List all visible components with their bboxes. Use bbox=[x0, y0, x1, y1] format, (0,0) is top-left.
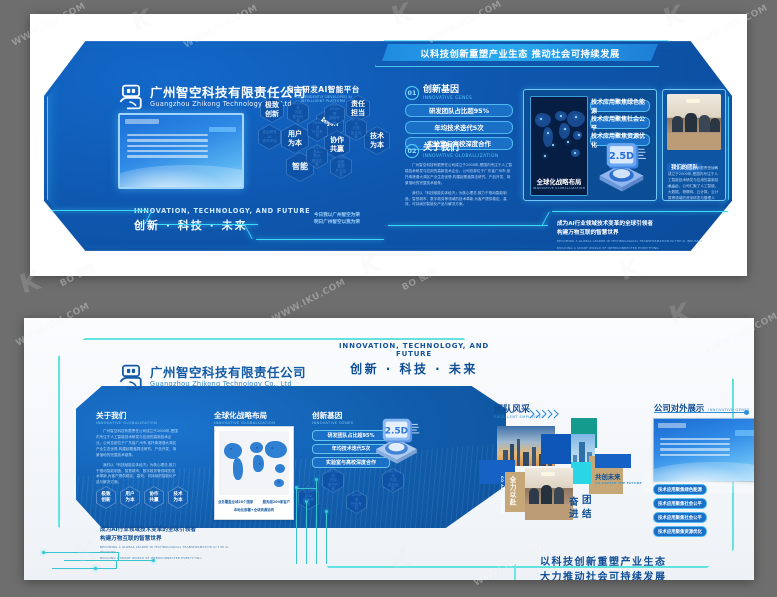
focus-tag-1[interactable]: 技术应用聚焦社会公平 bbox=[590, 117, 650, 129]
value-hex-1[interactable]: 用户为本 bbox=[120, 486, 140, 509]
device-2-5d-illustration: 2.5D bbox=[590, 138, 652, 194]
map-caption-en: INNOVATIVE GLOBALLIZATION bbox=[531, 186, 587, 190]
vision-cn-2: 构建万物互联的智慧世界 bbox=[557, 229, 717, 238]
team-meeting-photo bbox=[667, 94, 721, 150]
team-meeting-photo bbox=[525, 468, 573, 520]
motto-line-2: 明日广州智空以我为荣 bbox=[314, 219, 360, 226]
value-hex-text: 极致创新 bbox=[97, 487, 115, 508]
showcase-tag-1[interactable]: 技术应用聚焦社会公平 bbox=[653, 498, 707, 509]
monitor-button bbox=[209, 127, 236, 133]
top-motto: 今日我以广州智空为荣 明日广州智空以我为荣 bbox=[314, 212, 360, 227]
hex-detail-6: AI赋能创新重塑产业生态 bbox=[330, 154, 352, 179]
team-cap-cocreate-cn: 共创未来 bbox=[595, 472, 621, 481]
world-map-card: 全球化战略布局 INNOVATIVE GLOBALLIZATION bbox=[530, 96, 588, 196]
section-number-badge: 01 bbox=[405, 86, 419, 100]
section-title-en: INNOVATIVE GENES bbox=[423, 96, 472, 101]
hex-label-text: 智能 bbox=[292, 162, 308, 171]
bottom-logo: 广州智空科技有限责任公司 Guangzhou Zhikong Technolog… bbox=[118, 364, 306, 390]
deco-line-1 bbox=[52, 210, 148, 211]
bottom-head: INNOVATION, TECHNOLOGY, AND FUTURE 创新 · … bbox=[324, 342, 504, 377]
footer-line-2: 大力推动社会可持续发展 bbox=[540, 571, 667, 581]
about-paragraph-1: 我们以「科技赋能实体经济」为核心理念,致力于推动智能制造、智慧城市、数字政务等领… bbox=[96, 463, 178, 487]
company-name-cn: 广州智空科技有限责任公司 bbox=[150, 366, 306, 380]
vision-cn-1: 成为AI行业领域技术变革的全球引领者 bbox=[557, 220, 717, 229]
bottom-about-block: 关于我们 INNOVATIVE GLOBALIZATION 广州智空科技有限责任… bbox=[96, 410, 178, 486]
hex-label-5[interactable]: 技术为本 bbox=[364, 126, 390, 155]
hex-detail-text: 持有2600项国际专利 bbox=[325, 103, 344, 125]
global-label-cn: 全球化战略布局 bbox=[214, 410, 294, 421]
svg-text:2.5D: 2.5D bbox=[385, 426, 408, 436]
vision-en-2: BUILDING A SMART WORLD OF INTERCONNECTED… bbox=[557, 246, 717, 250]
svg-text:2.5D: 2.5D bbox=[609, 151, 634, 162]
section-title-cn: 关于我们 bbox=[423, 144, 499, 154]
team-cap-vertical: 全力以赴 bbox=[507, 476, 517, 506]
vision-cn-1: 成为AI行业领域技术变革的全球引领者 bbox=[100, 526, 230, 535]
team-photo-card: 我们的团队 OUR TEAM 广州智空科技有限责任公司成立于2000年,是国内专… bbox=[662, 89, 726, 201]
global-cap-left: 业务覆盖全球20个国家 bbox=[218, 499, 253, 504]
hex-label-text: 责任担当 bbox=[351, 100, 365, 116]
showcase-tag-3[interactable]: 技术应用聚焦资源优化 bbox=[653, 526, 707, 537]
robot-logo-icon bbox=[118, 84, 144, 110]
value-hex-3[interactable]: 技术为本 bbox=[168, 486, 188, 509]
section-title-cn: 创新基因 bbox=[423, 86, 472, 96]
showcase-tag-2[interactable]: 技术应用聚焦社会公平 bbox=[653, 512, 707, 523]
about-paragraph-0: 广州智空科技有限责任公司成立于2000年,是国内专注于人工智能技术研发与应用的高… bbox=[405, 163, 513, 187]
mosaic-blue-block-2 bbox=[541, 434, 571, 464]
section-02-head: 02 关于我们 INNOVATIVE GLOBALLIZATION bbox=[405, 144, 513, 159]
hex-label-text: 极致创新 bbox=[265, 101, 279, 117]
motto-line-1: 今日我以广州智空为荣 bbox=[314, 212, 360, 219]
hex-detail-text: 2600项行业专利 bbox=[308, 121, 327, 139]
value-hex-text: 协作共赢 bbox=[145, 487, 163, 508]
about-label-en: INNOVATIVE GLOBALIZATION bbox=[96, 421, 178, 425]
section-title-en: INNOVATIVE GLOBALLIZATION bbox=[423, 154, 499, 159]
section-number-badge: 02 bbox=[405, 144, 419, 158]
showcase-tag-0[interactable]: 技术应用聚焦绿色能源 bbox=[653, 484, 707, 495]
about-label-cn: 关于我们 bbox=[96, 410, 178, 421]
slogan-en: INNOVATION, TECHNOLOGY, AND FUTURE bbox=[134, 207, 310, 215]
top-board: 以科技创新重塑产业生态 推动社会可持续发展 广州智空科技有限责任公司 Guang… bbox=[30, 14, 747, 276]
hex-cluster: 极致创新 创新 责任担当 用户为本 协作共赢 技术为本 智能 核心技术沉淀迭代 bbox=[258, 90, 408, 185]
vision-en-1: BECOMING A GLOBAL LEADER IN TECHNOLOGICA… bbox=[557, 239, 717, 243]
hex-label-3[interactable]: 用户为本 bbox=[281, 123, 309, 154]
circuit-decoration-left bbox=[34, 546, 184, 580]
focus-tag-0[interactable]: 技术应用聚焦绿色能源 bbox=[590, 100, 650, 112]
team-cap-big-2: 团 bbox=[582, 492, 592, 506]
mosaic-blue-block-3 bbox=[595, 454, 631, 468]
showcase-underline-dot bbox=[744, 410, 749, 415]
hex-detail-1: 自主研发AI技术平台 bbox=[258, 124, 281, 150]
top-vision: 成为AI行业领域技术变革的全球引领者 构建万物互联的智慧世界 BECOMING … bbox=[557, 220, 717, 250]
world-map-caption: 全球化战略布局 INNOVATIVE GLOBALLIZATION bbox=[531, 177, 587, 190]
deco-line-8 bbox=[552, 211, 728, 212]
company-name-en: Guangzhou Zhikong Technology Co., Ltd bbox=[150, 380, 306, 389]
team-cap-cocreate-en: CO-CREATE THE FUTURE bbox=[595, 481, 642, 485]
hex-label-text: 用户为本 bbox=[288, 130, 302, 146]
global-map-image bbox=[219, 431, 289, 495]
poster-stage: 以科技创新重塑产业生态 推动社会可持续发展 广州智空科技有限责任公司 Guang… bbox=[0, 0, 777, 597]
monitor-screen bbox=[120, 115, 242, 187]
bottom-board: 广州智空科技有限责任公司 Guangzhou Zhikong Technolog… bbox=[24, 318, 754, 580]
global-label-en: INNOVATIVE GLOBALIZATION bbox=[214, 421, 294, 425]
hex-label-text: 协作共赢 bbox=[330, 136, 344, 152]
team-cap-vertical-en: GO ALL OUT FOR bbox=[500, 476, 504, 514]
genes-pill-0[interactable]: 研发团队占比超95% bbox=[405, 104, 513, 117]
about-label: 关于我们 INNOVATIVE GLOBALIZATION bbox=[96, 410, 178, 425]
global-layout-card: 全球化战略布局 INNOVATIVE GLOBALLIZATION 技术应用聚焦… bbox=[523, 89, 657, 201]
value-hex-text: 用户为本 bbox=[121, 487, 139, 508]
top-monitor bbox=[118, 113, 244, 189]
mosaic-cyan-block bbox=[571, 462, 591, 484]
footer-line-1: 以科技创新重塑产业生态 bbox=[540, 556, 667, 571]
bottom-global-block: 全球化战略布局 INNOVATIVE GLOBALIZATION bbox=[214, 410, 294, 425]
global-map-card: 业务覆盖全球20个国家 服务超200家客户 本地化部署+全球资源协同 bbox=[214, 426, 294, 520]
about-paragraph-0: 广州智空科技有限责任公司成立于2000年,是国内专注于人工智能技术研发与应用的高… bbox=[96, 429, 178, 459]
hex-detail-text: 自主研发AI技术平台 bbox=[259, 130, 280, 143]
bottom-head-en: INNOVATION, TECHNOLOGY, AND FUTURE bbox=[324, 342, 504, 358]
value-hex-row: 极致创新 用户为本 协作共赢 技术为本 bbox=[96, 486, 188, 509]
showcase-screen-card bbox=[653, 418, 754, 482]
gene-hex-3: 核心技术沉淀自主创新 bbox=[382, 468, 404, 493]
hex-detail-text: AI赋能创新重塑产业生态 bbox=[331, 155, 351, 177]
team-photo-mosaic: 全力以赴 GO ALL OUT FOR 共创未来 CO-CREATE THE F… bbox=[479, 416, 649, 546]
hex-label-0[interactable]: 极致创新 bbox=[260, 96, 284, 123]
showcase-screen bbox=[654, 419, 754, 481]
section-about-us: 02 关于我们 INNOVATIVE GLOBALLIZATION 广州智空科技… bbox=[405, 144, 513, 208]
hex-detail-text: 独立研发AI技术底层引擎 bbox=[307, 145, 327, 167]
bottom-device-2-5d: 2.5D bbox=[367, 414, 425, 466]
team-cap-big-4: 结 bbox=[582, 506, 592, 520]
circuit-decoration-mid bbox=[284, 468, 344, 578]
hex-label-text: 技术为本 bbox=[370, 132, 384, 148]
monitor-titlebar bbox=[125, 119, 159, 123]
team-card-text: 广州智空科技有限责任公司成立于2000年,是国内专注于人工智能技术研发与应用的高… bbox=[668, 166, 720, 201]
bottom-footer-text: 以科技创新重塑产业生态 大力推动社会可持续发展 bbox=[540, 556, 667, 580]
value-hex-0[interactable]: 极致创新 bbox=[96, 486, 116, 509]
section-innovative-genes: 01 创新基因 INNOVATIVE GENES 研发团队占比超95% 年均技术… bbox=[405, 86, 513, 150]
gene-hex-text: 2600项行业专利 bbox=[347, 493, 366, 511]
monitor-wave bbox=[118, 160, 244, 189]
hex-detail-0: 核心技术沉淀迭代升级 bbox=[287, 100, 309, 125]
vision-cn-2: 构建万物互联的智慧世界 bbox=[100, 535, 230, 544]
top-banner: 以科技创新重塑产业生态 推动社会可持续发展 bbox=[382, 44, 658, 61]
showcase-underline bbox=[654, 412, 746, 413]
value-hex-text: 技术为本 bbox=[169, 487, 187, 508]
hex-detail-text: 核心技术沉淀迭代升级 bbox=[288, 101, 308, 123]
bottom-head-cn: 创新 · 科技 · 未来 bbox=[324, 360, 504, 377]
value-hex-2[interactable]: 协作共赢 bbox=[144, 486, 164, 509]
about-paragraph-1: 我们以「科技赋能实体经济」为核心理念,致力于推动智能制造、智慧城市、数字政务等领… bbox=[405, 191, 513, 209]
map-caption-cn: 全球化战略布局 bbox=[531, 177, 587, 186]
deco-line-6 bbox=[388, 225, 548, 226]
team-cap-big-3: 进 bbox=[569, 506, 579, 520]
showcase-tag-list: 技术应用聚焦绿色能源 技术应用聚焦社会公平 技术应用聚焦社会公平 技术应用聚焦资… bbox=[653, 484, 754, 537]
gene-hex-text: 核心技术沉淀自主创新 bbox=[383, 469, 403, 491]
global-cap-bottom: 本地化部署+全球资源协同 bbox=[215, 507, 293, 512]
deco-line-5 bbox=[256, 239, 384, 240]
top-slogan: INNOVATION, TECHNOLOGY, AND FUTURE 创新 · … bbox=[134, 207, 310, 233]
monitor-text-lines bbox=[127, 134, 208, 161]
robot-logo-icon bbox=[118, 364, 144, 390]
genes-pill-1[interactable]: 年均技术迭代5次 bbox=[405, 121, 513, 134]
gene-hex-2: 2600项行业专利 bbox=[346, 490, 367, 514]
global-label: 全球化战略布局 INNOVATIVE GLOBALIZATION bbox=[214, 410, 294, 425]
global-caption-row: 业务覆盖全球20个国家 服务超200家客户 bbox=[218, 499, 290, 504]
hex-detail-text: 核心技术沉淀自主创新 bbox=[346, 117, 366, 139]
section-01-head: 01 创新基因 INNOVATIVE GENES bbox=[405, 86, 513, 101]
